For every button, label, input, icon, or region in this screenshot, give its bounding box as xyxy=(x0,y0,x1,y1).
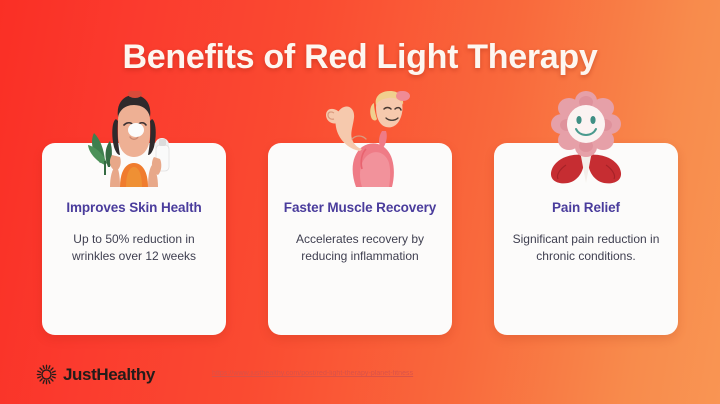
benefit-card-body: Accelerates recovery by reducing inflamm… xyxy=(280,231,440,265)
infographic-canvas: Benefits of Red Light Therapy xyxy=(0,0,720,404)
brand-logo[interactable]: JustHealthy xyxy=(36,364,155,385)
benefit-card-skin-health[interactable]: Improves Skin Health Up to 50% reduction… xyxy=(42,143,226,335)
benefit-card-title: Faster Muscle Recovery xyxy=(284,199,436,217)
page-title: Benefits of Red Light Therapy xyxy=(0,38,720,77)
sun-burst-icon xyxy=(36,364,57,385)
woman-skincare-illustration xyxy=(74,91,194,187)
flexing-arm-muscle-illustration xyxy=(300,91,420,187)
benefit-card-title: Improves Skin Health xyxy=(66,199,201,217)
footer: JustHealthy https://www.justhealthy.com/… xyxy=(0,356,720,404)
benefit-card-title: Pain Relief xyxy=(552,199,620,217)
benefit-card-pain-relief[interactable]: Pain Relief Significant pain reduction i… xyxy=(494,143,678,335)
benefit-card-body: Significant pain reduction in chronic co… xyxy=(506,231,666,265)
brand-logo-text: JustHealthy xyxy=(63,365,155,385)
benefit-card-list: Improves Skin Health Up to 50% reduction… xyxy=(42,143,678,335)
source-url-link[interactable]: https://www.justhealthy.com/post/red-lig… xyxy=(212,370,413,377)
smiling-flower-illustration xyxy=(526,91,646,187)
benefit-card-body: Up to 50% reduction in wrinkles over 12 … xyxy=(54,231,214,265)
benefit-card-muscle-recovery[interactable]: Faster Muscle Recovery Accelerates recov… xyxy=(268,143,452,335)
